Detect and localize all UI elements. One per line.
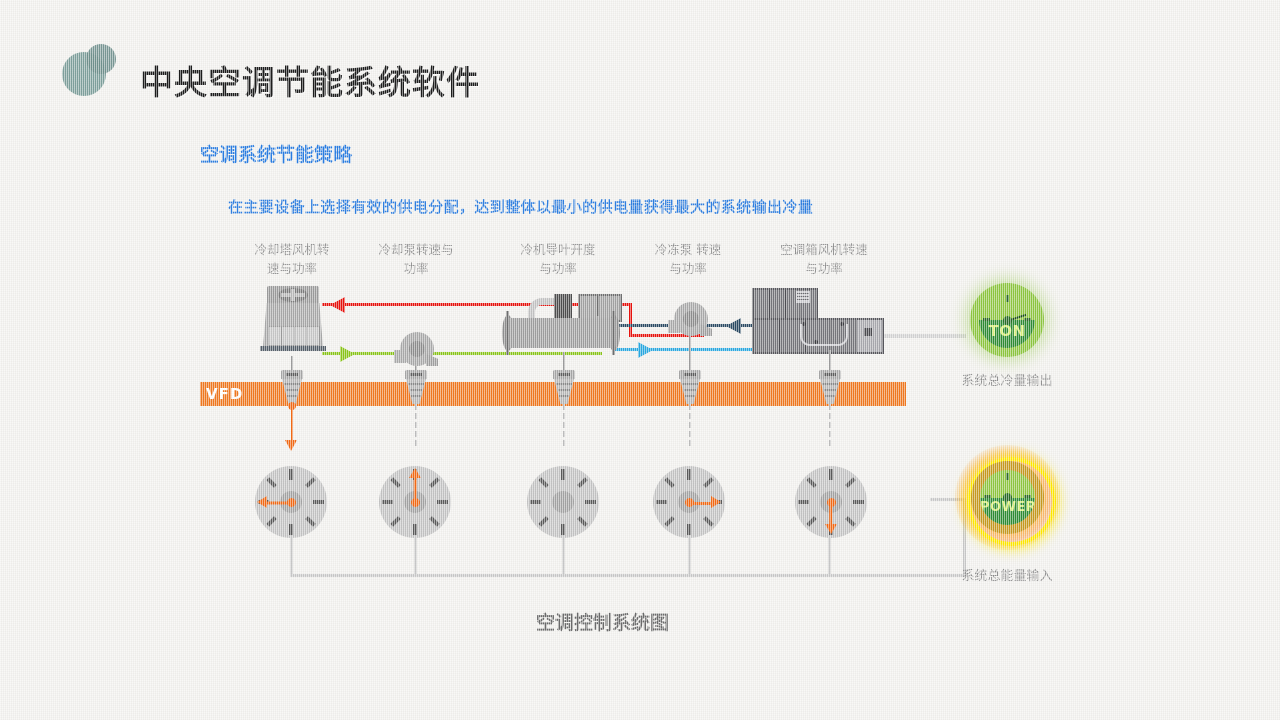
- drive-3-to-meter-line: [563, 404, 565, 446]
- ahu-grille-icon: [796, 291, 810, 303]
- equipment-label-condenser-pump: 冷却泵转速与 功率: [356, 240, 476, 278]
- pipe-chilled-supply: [612, 348, 760, 351]
- power-gauge-text: POWER: [980, 500, 1035, 515]
- vfd-drive-5[interactable]: [819, 370, 841, 404]
- power-bus-horizontal: [290, 574, 966, 577]
- power-gauge[interactable]: POWER: [971, 461, 1044, 534]
- page-title: 中央空调节能系统软件: [140, 56, 480, 104]
- meter-condenser-pump[interactable]: [379, 466, 451, 538]
- bus-stem-5: [828, 536, 831, 576]
- ton-gauge[interactable]: TON: [970, 283, 1044, 357]
- ton-gauge-text: TON: [979, 322, 1035, 340]
- drive-1-to-meter-line: [291, 408, 293, 442]
- pipe-condenser-return-drop: [629, 303, 632, 337]
- vfd-drive-2[interactable]: [405, 370, 427, 404]
- line-ahu-to-ton-gauge: [878, 334, 966, 338]
- bus-stem-4: [688, 536, 691, 576]
- air-handling-unit-icon: [752, 288, 880, 350]
- equipment-label-cooling-tower: 冷却塔风机转 速与功率: [232, 240, 352, 278]
- logo-circle-small: [86, 44, 116, 74]
- arrow-condenser-return: [330, 297, 345, 313]
- power-gauge-caption: 系统总能量输入: [917, 565, 1097, 584]
- chiller-icon: [500, 288, 625, 358]
- cooling-tower-icon: [262, 286, 324, 356]
- vfd-drive-3[interactable]: [553, 370, 575, 404]
- drive-4-to-meter-line: [689, 404, 691, 446]
- arrow-chilled-return: [726, 318, 741, 334]
- bus-stem-3: [562, 536, 565, 576]
- meter-chiller[interactable]: [527, 466, 599, 538]
- bus-stem-2: [414, 536, 417, 576]
- drive-1-arrow: [285, 440, 297, 451]
- section-subtitle: 空调系统节能策略: [200, 140, 352, 167]
- vfd-label: VFD: [206, 385, 243, 403]
- meter-cooling-tower[interactable]: [255, 466, 327, 538]
- arrow-chilled-supply: [638, 342, 653, 358]
- equipment-label-chiller: 冷机导叶开度 与功率: [498, 240, 618, 278]
- equipment-label-ahu: 空调箱风机转速 与功率: [758, 240, 890, 278]
- vfd-drive-4[interactable]: [679, 370, 701, 404]
- diagram-caption: 空调控制系统图: [536, 608, 669, 635]
- section-lead-text: 在主要设备上选择有效的供电分配，达到整体以最小的供电量获得最大的系统输出冷量: [228, 196, 813, 217]
- meter-chilled-pump[interactable]: [653, 466, 725, 538]
- bus-stem-1: [290, 536, 293, 576]
- ton-gauge-caption: 系统总冷量输出: [917, 370, 1097, 389]
- meter-ahu[interactable]: [795, 466, 867, 538]
- arrow-condenser-supply: [340, 346, 355, 362]
- vfd-drive-1[interactable]: [281, 370, 303, 404]
- drive-2-to-meter-line: [415, 404, 417, 446]
- equipment-label-chilled-pump: 冷冻泵 转速 与功率: [628, 240, 748, 278]
- slide-canvas: 中央空调节能系统软件 空调系统节能策略 在主要设备上选择有效的供电分配，达到整体…: [0, 0, 1280, 720]
- brand-circles-logo: [62, 44, 114, 96]
- cooling-tower-fan-icon: [278, 288, 308, 302]
- drive-5-to-meter-line: [829, 404, 831, 446]
